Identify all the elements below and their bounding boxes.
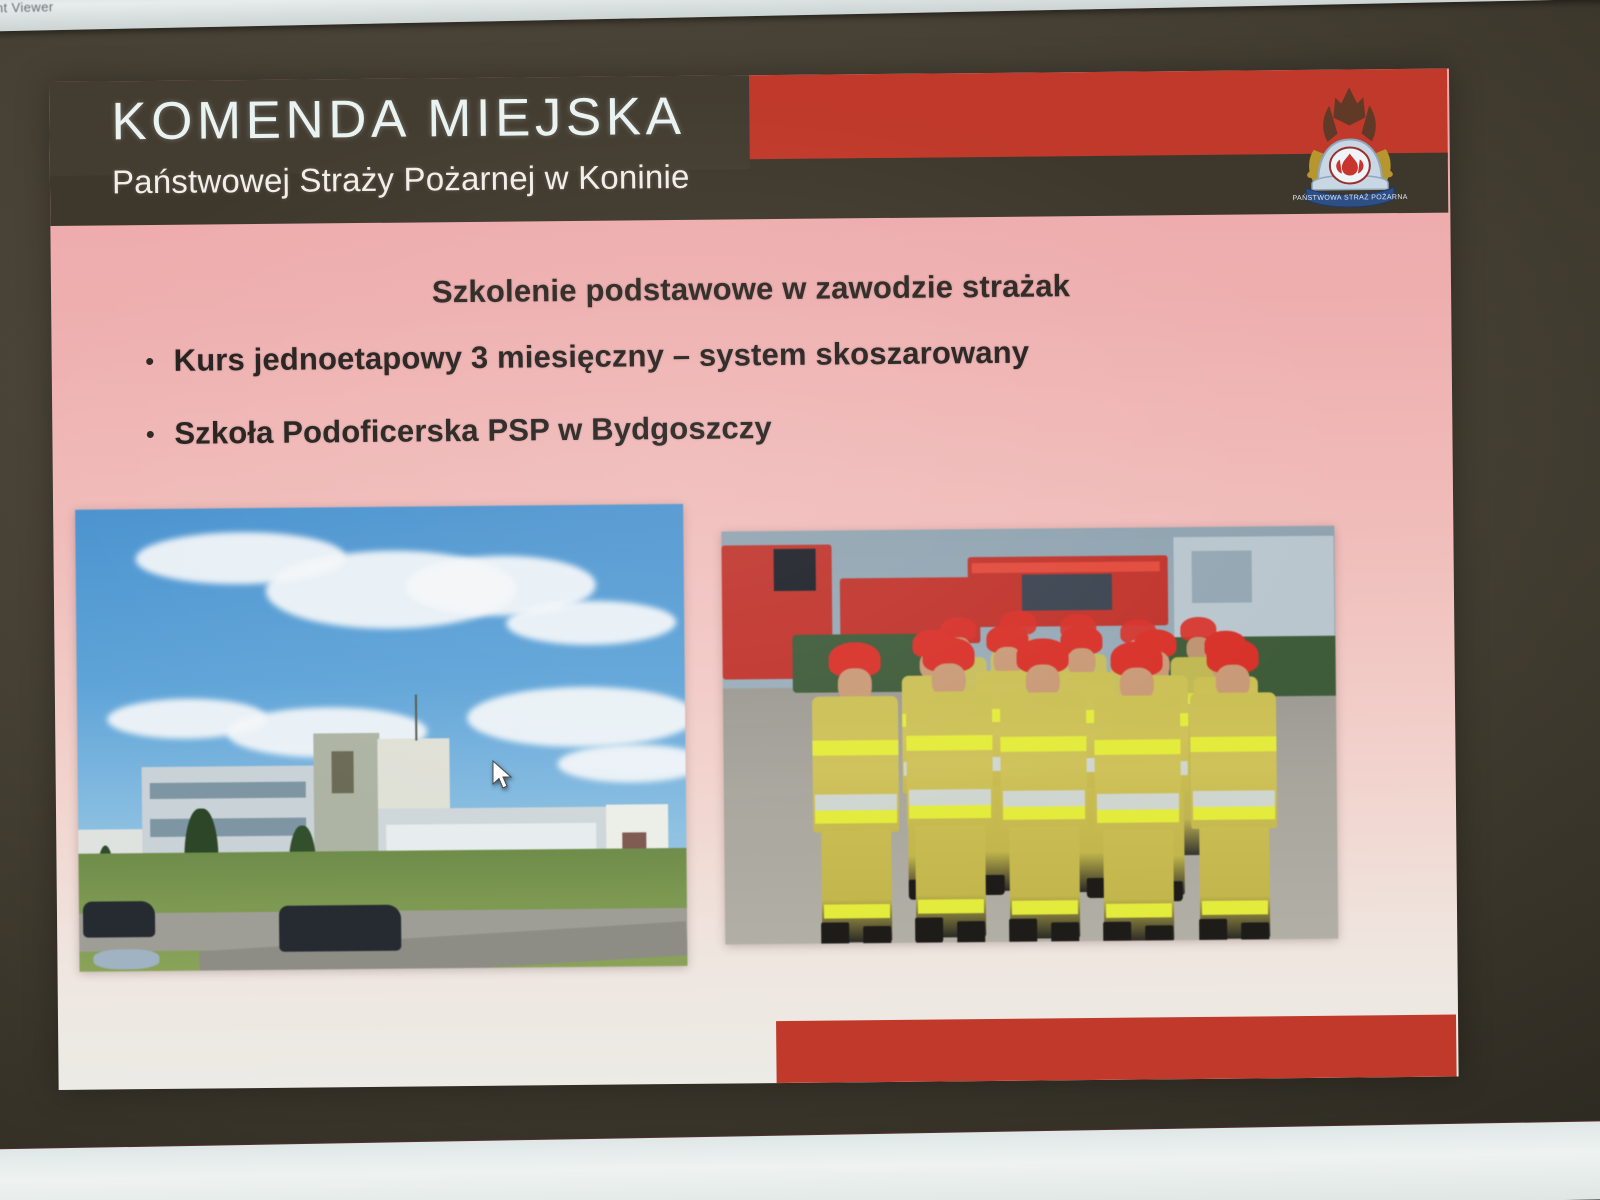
truck-windshield xyxy=(1022,574,1112,611)
psp-emblem-icon: PAŃSTWOWA STRAŻ POŻARNA xyxy=(1291,83,1408,216)
window-row xyxy=(150,782,306,799)
firefighter xyxy=(806,642,905,929)
bullet-list: • Kurs jednoetapowy 3 miesięczny – syste… xyxy=(126,331,1367,488)
bullet-text: Szkoła Podoficerska PSP w Bydgoszczy xyxy=(174,410,772,452)
firefighter xyxy=(1088,641,1187,926)
presentation-slide: KOMENDA MIEJSKA Państwowej Straży Pożarn… xyxy=(49,69,1459,1090)
slide-heading: Szkolenie podstawowe w zawodzie strażak xyxy=(51,265,1451,314)
puddle xyxy=(93,949,159,970)
projected-presentation-screen: nt Viewer KOMENDA MIEJSKA Państwowej Str… xyxy=(0,0,1600,1200)
firefighter xyxy=(1184,638,1283,925)
upper-block xyxy=(377,738,450,817)
bullet-marker-icon: • xyxy=(126,415,174,448)
window-row xyxy=(150,818,306,837)
car xyxy=(83,901,155,938)
tower-window xyxy=(331,751,353,793)
bullet-item: • Szkoła Podoficerska PSP w Bydgoszczy xyxy=(126,404,1366,452)
truck-cab-window xyxy=(774,549,816,591)
fire-station-building-photo xyxy=(75,504,687,972)
organization-subtitle: Państwowej Straży Pożarnej w Koninie xyxy=(112,158,690,202)
slide-header: KOMENDA MIEJSKA Państwowej Straży Pożarn… xyxy=(49,69,1450,226)
firefighter xyxy=(994,638,1093,927)
bullet-text: Kurs jednoetapowy 3 miesięczny – system … xyxy=(174,335,1030,380)
truck-lightbar xyxy=(972,561,1160,573)
slide-footer-red-band xyxy=(776,1015,1457,1084)
mouse-pointer xyxy=(492,760,514,792)
firefighter xyxy=(900,637,999,928)
firefighters-marching-photo xyxy=(721,526,1338,945)
depot-window xyxy=(1192,550,1252,603)
bullet-marker-icon: • xyxy=(126,343,174,376)
car xyxy=(279,905,401,952)
garage-upper-windows xyxy=(386,823,596,851)
organization-title: KOMENDA MIEJSKA xyxy=(111,86,686,153)
antenna-mast xyxy=(415,694,417,740)
bullet-item: • Kurs jednoetapowy 3 miesięczny – syste… xyxy=(126,331,1366,379)
